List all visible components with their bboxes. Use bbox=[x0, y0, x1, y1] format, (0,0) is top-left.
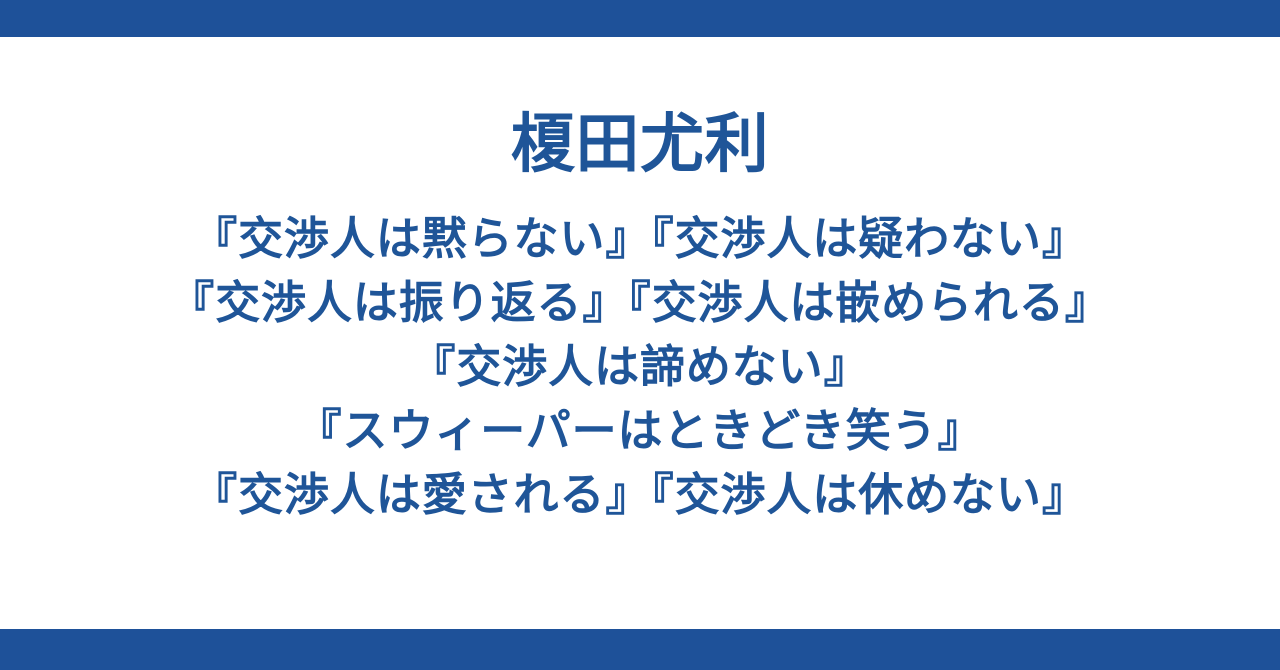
slide-canvas: 榎田尤利 『交渉人は黙らない』『交渉人は疑わない』 『交渉人は振り返る』『交渉人… bbox=[0, 0, 1280, 670]
top-accent-bar bbox=[0, 0, 1280, 37]
works-line: 『交渉人は愛される』『交渉人は休めない』 bbox=[0, 463, 1280, 527]
works-line: 『交渉人は黙らない』『交渉人は疑わない』 bbox=[0, 207, 1280, 271]
slide-content: 榎田尤利 『交渉人は黙らない』『交渉人は疑わない』 『交渉人は振り返る』『交渉人… bbox=[0, 37, 1280, 629]
page-title: 榎田尤利 bbox=[511, 113, 770, 177]
works-line: 『スウィーパーはときどき笑う』 bbox=[0, 399, 1280, 463]
works-line: 『交渉人は諦めない』 bbox=[0, 335, 1280, 399]
works-list: 『交渉人は黙らない』『交渉人は疑わない』 『交渉人は振り返る』『交渉人は嵌められ… bbox=[0, 207, 1280, 527]
works-line: 『交渉人は振り返る』『交渉人は嵌められる』 bbox=[0, 271, 1280, 335]
bottom-accent-bar bbox=[0, 629, 1280, 670]
